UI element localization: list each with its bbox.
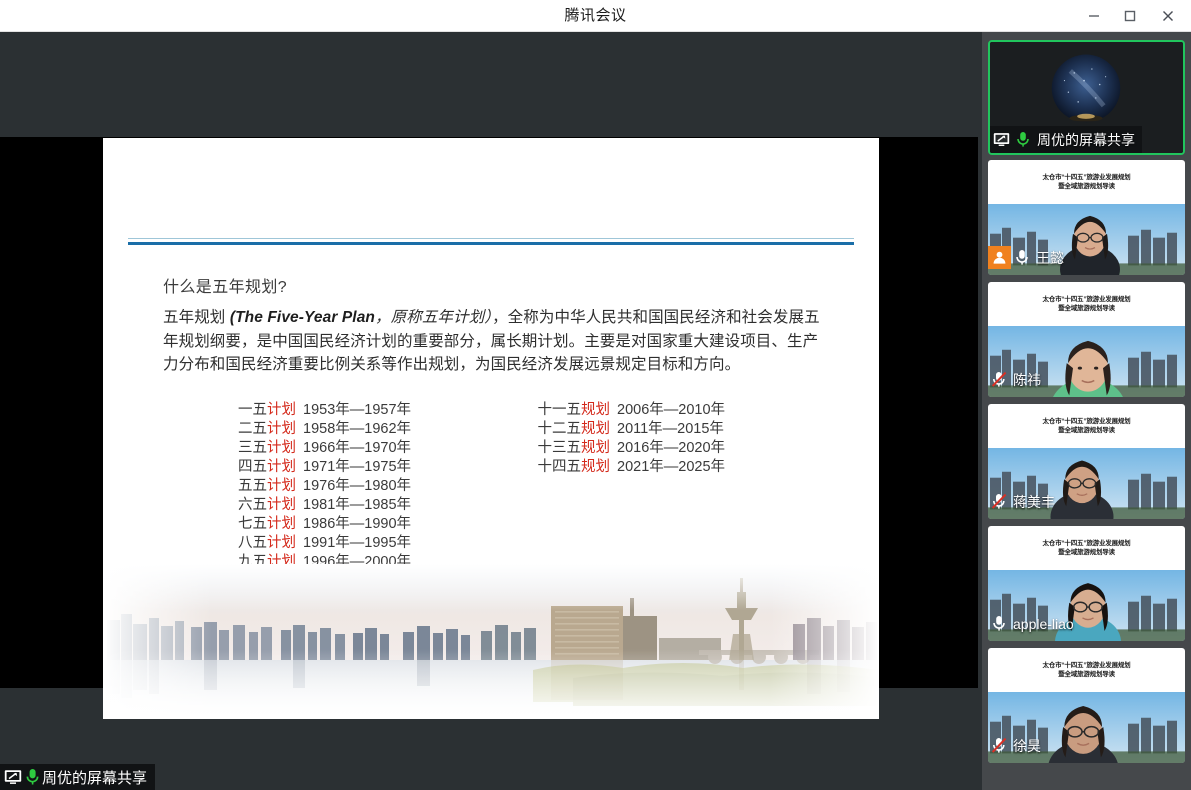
stage-top-band — [0, 32, 982, 137]
participant-name: 周优的屏幕共享 — [1037, 130, 1135, 150]
five-year-plan-list-left: 一五计划1953年—1957年二五计划1958年—1962年三五计划1966年—… — [228, 401, 411, 591]
plan-name: 二五计划 — [228, 420, 296, 439]
plan-keyword: 规划 — [581, 421, 610, 437]
plan-name: 六五计划 — [228, 496, 296, 515]
plan-years: 1976年—1980年 — [303, 478, 411, 494]
plan-years: 1966年—1970年 — [303, 440, 411, 456]
slide-body-paragraph: 五年规划 (The Five-Year Plan，原称五年计划），全称为中华人民… — [163, 306, 828, 377]
minimize-button[interactable] — [1077, 0, 1111, 32]
plan-years: 2011年—2015年 — [617, 421, 724, 437]
plan-name: 八五计划 — [228, 534, 296, 553]
plan-ordinal: 七五 — [238, 516, 267, 532]
deck-title-line2: 暨全域旅游规划导读 — [1058, 548, 1115, 557]
plan-name: 四五计划 — [228, 458, 296, 477]
maximize-button[interactable] — [1113, 0, 1147, 32]
screen-share-icon — [993, 132, 1010, 147]
host-badge — [988, 246, 1011, 269]
cityscape-photo — [103, 564, 879, 719]
window-title: 腾讯会议 — [0, 0, 1191, 32]
deck-title-line2: 暨全域旅游规划导读 — [1058, 670, 1115, 679]
plan-row: 六五计划1981年—1985年 — [228, 496, 411, 515]
plan-row: 二五计划1958年—1962年 — [228, 420, 411, 439]
plan-ordinal: 五五 — [238, 478, 267, 494]
participant-label: 王懿 — [988, 246, 1071, 269]
microphone-icon — [1016, 131, 1030, 148]
maximize-icon — [1123, 9, 1137, 23]
mic-icon-wrap — [1011, 246, 1033, 269]
plan-ordinal: 十三五 — [538, 440, 582, 456]
deck-title-line1: 太仓市“十四五”旅游业发展规划 — [1042, 661, 1130, 670]
plan-name: 七五计划 — [228, 515, 296, 534]
plan-name: 十一五规划 — [528, 401, 610, 420]
cityscape-illustration — [103, 564, 879, 719]
microphone-muted-icon — [991, 737, 1008, 754]
participant-label: 周优的屏幕共享 — [990, 126, 1142, 153]
plan-ordinal: 六五 — [238, 497, 267, 513]
plan-keyword: 规划 — [581, 440, 610, 456]
participant-deck-title: 太仓市“十四五”旅游业发展规划暨全域旅游规划导读 — [988, 282, 1185, 326]
participant-label: 陈祎 — [988, 368, 1048, 391]
mic-icon-wrap — [1012, 128, 1034, 151]
plan-name: 十三五规划 — [528, 439, 610, 458]
plan-years: 2006年—2010年 — [617, 402, 725, 418]
plan-ordinal: 十四五 — [538, 459, 582, 475]
plan-row: 十一五规划2006年—2010年 — [528, 401, 725, 420]
plan-name: 十二五规划 — [528, 420, 610, 439]
participant-name: 徐昊 — [1013, 736, 1041, 756]
plan-ordinal: 二五 — [238, 421, 267, 437]
plan-name: 十四五规划 — [528, 458, 610, 477]
host-person-icon — [992, 250, 1007, 265]
participant-tile[interactable]: 太仓市“十四五”旅游业发展规划暨全域旅游规划导读陈祎 — [988, 282, 1185, 397]
participant-name: 王懿 — [1036, 248, 1064, 268]
deck-title-line1: 太仓市“十四五”旅游业发展规划 — [1042, 173, 1130, 182]
participant-label: 蒋美丰 — [988, 490, 1062, 513]
plan-row: 十二五规划2011年—2015年 — [528, 420, 725, 439]
close-icon — [1161, 9, 1175, 23]
plan-years: 1971年—1975年 — [303, 459, 411, 475]
participant-tile[interactable]: 太仓市“十四五”旅游业发展规划暨全域旅游规划导读apple-liao — [988, 526, 1185, 641]
plan-row: 五五计划1976年—1980年 — [228, 477, 411, 496]
plan-ordinal: 一五 — [238, 402, 267, 418]
plan-keyword: 规划 — [581, 402, 610, 418]
plan-keyword: 计划 — [267, 402, 296, 418]
participant-deck-title: 太仓市“十四五”旅游业发展规划暨全域旅游规划导读 — [988, 526, 1185, 570]
slide-heading: 什么是五年规划? — [163, 273, 287, 297]
plan-years: 2021年—2025年 — [617, 459, 725, 475]
participant-name: 陈祎 — [1013, 370, 1041, 390]
deck-title-line1: 太仓市“十四五”旅游业发展规划 — [1042, 417, 1130, 426]
plan-keyword: 计划 — [267, 497, 296, 513]
plan-name: 一五计划 — [228, 401, 296, 420]
plan-years: 1958年—1962年 — [303, 421, 411, 437]
mic-icon-wrap — [988, 490, 1010, 513]
plan-years: 1953年—1957年 — [303, 402, 411, 418]
microphone-muted-icon — [991, 493, 1008, 510]
plan-ordinal: 十二五 — [538, 421, 582, 437]
deck-title-line2: 暨全域旅游规划导读 — [1058, 182, 1115, 191]
plan-years: 1986年—1990年 — [303, 516, 411, 532]
deck-title-line2: 暨全域旅游规划导读 — [1058, 426, 1115, 435]
microphone-icon — [25, 768, 40, 786]
five-year-plan-list-right: 十一五规划2006年—2010年十二五规划2011年—2015年十三五规划201… — [528, 401, 725, 477]
plan-row: 八五计划1991年—1995年 — [228, 534, 411, 553]
participant-tile[interactable]: 太仓市“十四五”旅游业发展规划暨全域旅游规划导读蒋美丰 — [988, 404, 1185, 519]
plan-keyword: 计划 — [267, 535, 296, 551]
plan-row: 三五计划1966年—1970年 — [228, 439, 411, 458]
participant-panel[interactable]: 周优的屏幕共享太仓市“十四五”旅游业发展规划暨全域旅游规划导读王懿太仓市“十四五… — [982, 32, 1191, 790]
participant-name: 蒋美丰 — [1013, 492, 1055, 512]
participant-tile[interactable]: 太仓市“十四五”旅游业发展规划暨全域旅游规划导读徐昊 — [988, 648, 1185, 763]
screen-share-icon — [4, 769, 22, 785]
plan-ordinal: 八五 — [238, 535, 267, 551]
screen-share-indicator[interactable]: 周优的屏幕共享 — [0, 764, 155, 790]
participant-label: 徐昊 — [988, 734, 1048, 757]
plan-keyword: 计划 — [267, 440, 296, 456]
plan-keyword: 计划 — [267, 516, 296, 532]
plan-ordinal: 十一五 — [538, 402, 582, 418]
plan-row: 十三五规划2016年—2020年 — [528, 439, 725, 458]
mic-icon-wrap — [988, 734, 1010, 757]
participant-name: apple-liao — [1013, 616, 1074, 632]
participant-label: apple-liao — [988, 612, 1081, 635]
plan-years: 1991年—1995年 — [303, 535, 411, 551]
microphone-icon — [1015, 249, 1029, 266]
plan-name: 三五计划 — [228, 439, 296, 458]
slide-body-chinese-italic: ，原称五年计划） — [375, 309, 492, 326]
plan-years: 2016年—2020年 — [617, 440, 725, 456]
slide-body-english: (The Five-Year Plan — [230, 309, 375, 326]
mic-icon-wrap — [988, 612, 1010, 635]
participant-deck-title: 太仓市“十四五”旅游业发展规划暨全域旅游规划导读 — [988, 404, 1185, 448]
slide-body-prefix: 五年规划 — [163, 309, 225, 326]
window-title-bar: 腾讯会议 — [0, 0, 1191, 32]
plan-row: 一五计划1953年—1957年 — [228, 401, 411, 420]
slide-rule-thick — [128, 242, 854, 245]
plan-keyword: 计划 — [267, 478, 296, 494]
participant-deck-title: 太仓市“十四五”旅游业发展规划暨全域旅游规划导读 — [988, 160, 1185, 204]
deck-title-line1: 太仓市“十四五”旅游业发展规划 — [1042, 539, 1130, 548]
plan-row: 四五计划1971年—1975年 — [228, 458, 411, 477]
deck-title-line1: 太仓市“十四五”旅游业发展规划 — [1042, 295, 1130, 304]
plan-row: 七五计划1986年—1990年 — [228, 515, 411, 534]
plan-keyword: 计划 — [267, 421, 296, 437]
participant-tile[interactable]: 太仓市“十四五”旅游业发展规划暨全域旅游规划导读王懿 — [988, 160, 1185, 275]
plan-keyword: 规划 — [581, 459, 610, 475]
plan-row: 十四五规划2021年—2025年 — [528, 458, 725, 477]
minimize-icon — [1087, 9, 1101, 23]
screen-share-indicator-label: 周优的屏幕共享 — [42, 767, 147, 788]
plan-years: 1981年—1985年 — [303, 497, 411, 513]
plan-name: 五五计划 — [228, 477, 296, 496]
deck-title-line2: 暨全域旅游规划导读 — [1058, 304, 1115, 313]
plan-keyword: 计划 — [267, 459, 296, 475]
mic-icon-wrap — [988, 368, 1010, 391]
plan-ordinal: 三五 — [238, 440, 267, 456]
close-button[interactable] — [1151, 0, 1185, 32]
participant-tile[interactable]: 周优的屏幕共享 — [988, 40, 1185, 155]
microphone-muted-icon — [991, 371, 1008, 388]
presentation-slide: 什么是五年规划? 五年规划 (The Five-Year Plan，原称五年计划… — [103, 138, 879, 719]
plan-ordinal: 四五 — [238, 459, 267, 475]
participant-deck-title: 太仓市“十四五”旅游业发展规划暨全域旅游规划导读 — [988, 648, 1185, 692]
slide-rule-thin — [128, 238, 854, 239]
shared-screen-stage[interactable]: 什么是五年规划? 五年规划 (The Five-Year Plan，原称五年计划… — [0, 32, 982, 790]
screen-share-icon-wrap — [990, 128, 1012, 151]
microphone-icon — [992, 615, 1006, 632]
